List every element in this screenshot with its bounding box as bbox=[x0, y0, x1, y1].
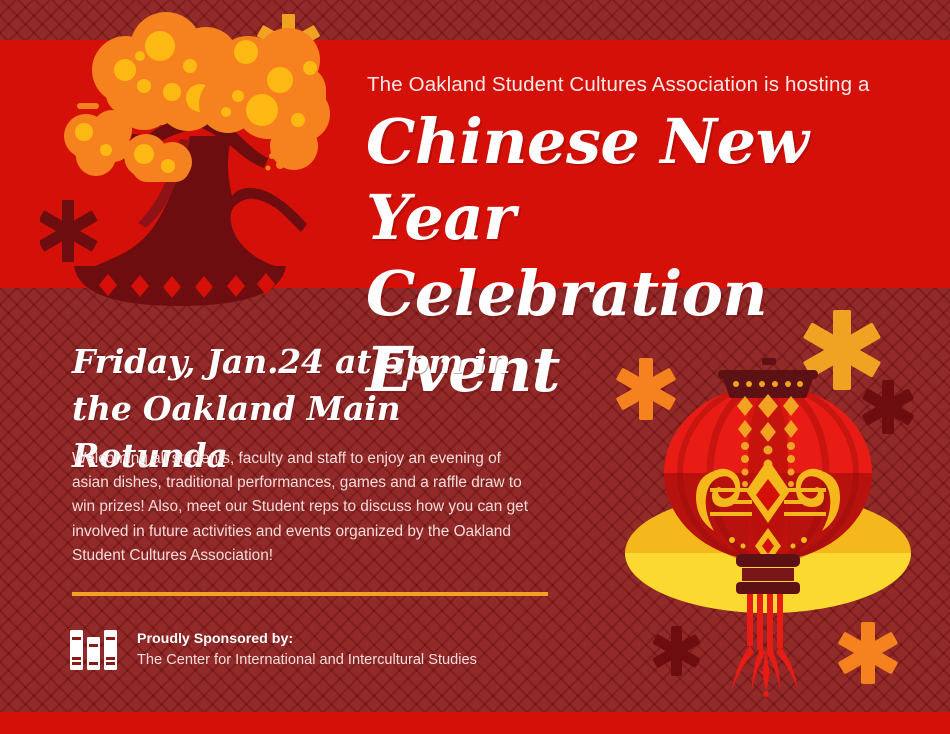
asterisk-star-decoration bbox=[838, 622, 899, 684]
lantern-collar-mid bbox=[742, 568, 794, 581]
books-logo bbox=[70, 628, 118, 672]
gold-divider bbox=[72, 592, 548, 596]
sponsor-text-group: Proudly Sponsored by: The Center for Int… bbox=[137, 632, 477, 668]
lantern-collar-top bbox=[736, 554, 800, 567]
bonsai-foliage-lower bbox=[64, 110, 132, 176]
footer-red-band bbox=[0, 712, 950, 734]
bonsai-tree-illustration bbox=[40, 8, 340, 308]
chinese-new-year-event-poster: The Oakland Student Cultures Association… bbox=[0, 0, 950, 734]
asterisk-star-decoration bbox=[40, 200, 98, 262]
sponsor-organization: The Center for International and Intercu… bbox=[137, 653, 477, 668]
sponsor-block: Proudly Sponsored by: The Center for Int… bbox=[70, 628, 477, 672]
asterisk-star-decoration bbox=[652, 626, 701, 676]
book-middle bbox=[87, 637, 100, 670]
kicker-text: The Oakland Student Cultures Association… bbox=[367, 73, 927, 97]
sponsor-label: Proudly Sponsored by: bbox=[137, 632, 477, 646]
subhead-line-1: Friday, Jan.24 at 5pm in bbox=[72, 338, 542, 385]
headline-line-1: Chinese New Year bbox=[366, 104, 938, 256]
event-description: Welcoming all students, faculty and staf… bbox=[72, 447, 538, 568]
lantern-collar-bot bbox=[736, 582, 800, 594]
